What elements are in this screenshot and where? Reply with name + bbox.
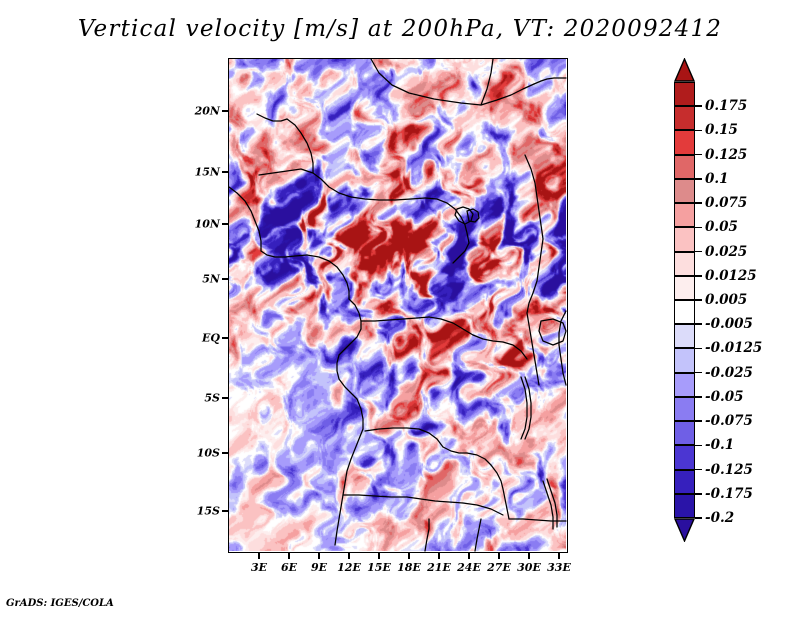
colorbar-band: [674, 203, 695, 227]
colorbar-tick-mark: [695, 445, 702, 447]
colorbar-tick-label: 0.075: [705, 195, 747, 211]
colorbar-tick-label: -0.2: [705, 510, 734, 526]
colorbar-tick-label: 0.05: [705, 219, 738, 235]
colorbar-band: [674, 276, 695, 300]
colorbar-tick-mark: [695, 348, 702, 350]
colorbar-tick-label: -0.1: [705, 437, 734, 453]
colorbar-tick-mark: [695, 130, 702, 132]
x-tick-label: 24E: [457, 561, 481, 574]
y-tick-label: 10N: [184, 218, 220, 231]
colorbar-band: [674, 300, 695, 324]
colorbar-tick-mark: [695, 251, 702, 253]
x-tick-label: 6E: [281, 561, 297, 574]
colorbar-band: [674, 470, 695, 494]
y-tick-mark: [222, 452, 228, 454]
colorbar-tick-mark: [695, 517, 702, 519]
colorbar-band: [674, 179, 695, 203]
country-borders-overlay: [229, 59, 566, 551]
y-tick-mark: [222, 110, 228, 112]
colorbar-band: [674, 82, 695, 106]
colorbar-tick-label: -0.025: [705, 365, 753, 381]
colorbar-tick-label: 0.025: [705, 244, 747, 260]
colorbar-tick-mark: [695, 275, 702, 277]
colorbar-tick-label: -0.05: [705, 389, 743, 405]
map-plot-area: [228, 58, 568, 553]
y-tick-label: 5N: [184, 273, 220, 286]
colorbar-band: [674, 397, 695, 421]
colorbar-tick-label: 0.125: [705, 147, 747, 163]
footer-credit: GrADS: IGES/COLA: [6, 598, 114, 609]
colorbar-band: [674, 348, 695, 372]
colorbar-band: [674, 494, 695, 518]
colorbar-tick-mark: [695, 469, 702, 471]
x-tick-label: 3E: [251, 561, 267, 574]
x-tick-label: 27E: [487, 561, 511, 574]
colorbar-tick-mark: [695, 420, 702, 422]
colorbar: 0.1750.150.1250.10.0750.050.0250.01250.0…: [674, 82, 695, 518]
colorbar-tick-label: 0.15: [705, 122, 738, 138]
colorbar-bottom-arrow-icon: [674, 518, 695, 542]
x-tick-mark: [348, 553, 350, 559]
colorbar-band: [674, 445, 695, 469]
x-tick-label: 18E: [397, 561, 421, 574]
colorbar-tick-mark: [695, 227, 702, 229]
x-tick-mark: [438, 553, 440, 559]
x-tick-mark: [558, 553, 560, 559]
y-tick-mark: [222, 397, 228, 399]
colorbar-tick-mark: [695, 178, 702, 180]
colorbar-band: [674, 373, 695, 397]
colorbar-tick-mark: [695, 396, 702, 398]
x-tick-mark: [258, 553, 260, 559]
y-tick-label: 20N: [184, 105, 220, 118]
x-tick-mark: [408, 553, 410, 559]
y-tick-mark: [222, 278, 228, 280]
y-tick-mark: [222, 223, 228, 225]
x-tick-mark: [378, 553, 380, 559]
x-tick-mark: [528, 553, 530, 559]
colorbar-band: [674, 421, 695, 445]
y-tick-mark: [222, 510, 228, 512]
colorbar-tick-label: -0.0125: [705, 340, 762, 356]
x-tick-mark: [498, 553, 500, 559]
colorbar-tick-label: 0.1: [705, 171, 729, 187]
colorbar-tick-mark: [695, 493, 702, 495]
colorbar-tick-mark: [695, 202, 702, 204]
colorbar-band: [674, 227, 695, 251]
x-tick-label: 21E: [427, 561, 451, 574]
colorbar-tick-mark: [695, 372, 702, 374]
colorbar-top-arrow-icon: [674, 58, 695, 82]
y-tick-mark: [222, 337, 228, 339]
colorbar-band: [674, 324, 695, 348]
colorbar-band: [674, 155, 695, 179]
colorbar-band: [674, 106, 695, 130]
colorbar-tick-mark: [695, 105, 702, 107]
colorbar-tick-label: 0.005: [705, 292, 747, 308]
x-tick-label: 9E: [311, 561, 327, 574]
y-tick-label: 5S: [184, 392, 220, 405]
x-tick-label: 33E: [547, 561, 571, 574]
colorbar-tick-label: -0.075: [705, 413, 753, 429]
page-title: Vertical velocity [m/s] at 200hPa, VT: 2…: [0, 16, 800, 42]
colorbar-tick-label: 0.0125: [705, 268, 757, 284]
colorbar-band: [674, 252, 695, 276]
x-tick-mark: [468, 553, 470, 559]
x-tick-mark: [318, 553, 320, 559]
y-tick-label: 10S: [184, 447, 220, 460]
y-tick-label: EQ: [184, 332, 220, 345]
colorbar-tick-mark: [695, 299, 702, 301]
x-tick-label: 15E: [367, 561, 391, 574]
colorbar-tick-label: -0.175: [705, 486, 753, 502]
colorbar-tick-label: -0.005: [705, 316, 753, 332]
colorbar-band: [674, 130, 695, 154]
x-tick-label: 12E: [337, 561, 361, 574]
y-tick-label: 15N: [184, 166, 220, 179]
x-tick-mark: [288, 553, 290, 559]
y-tick-mark: [222, 171, 228, 173]
y-tick-label: 15S: [184, 505, 220, 518]
colorbar-tick-mark: [695, 154, 702, 156]
colorbar-tick-label: 0.175: [705, 98, 747, 114]
colorbar-tick-label: -0.125: [705, 462, 753, 478]
colorbar-tick-mark: [695, 323, 702, 325]
x-tick-label: 30E: [517, 561, 541, 574]
